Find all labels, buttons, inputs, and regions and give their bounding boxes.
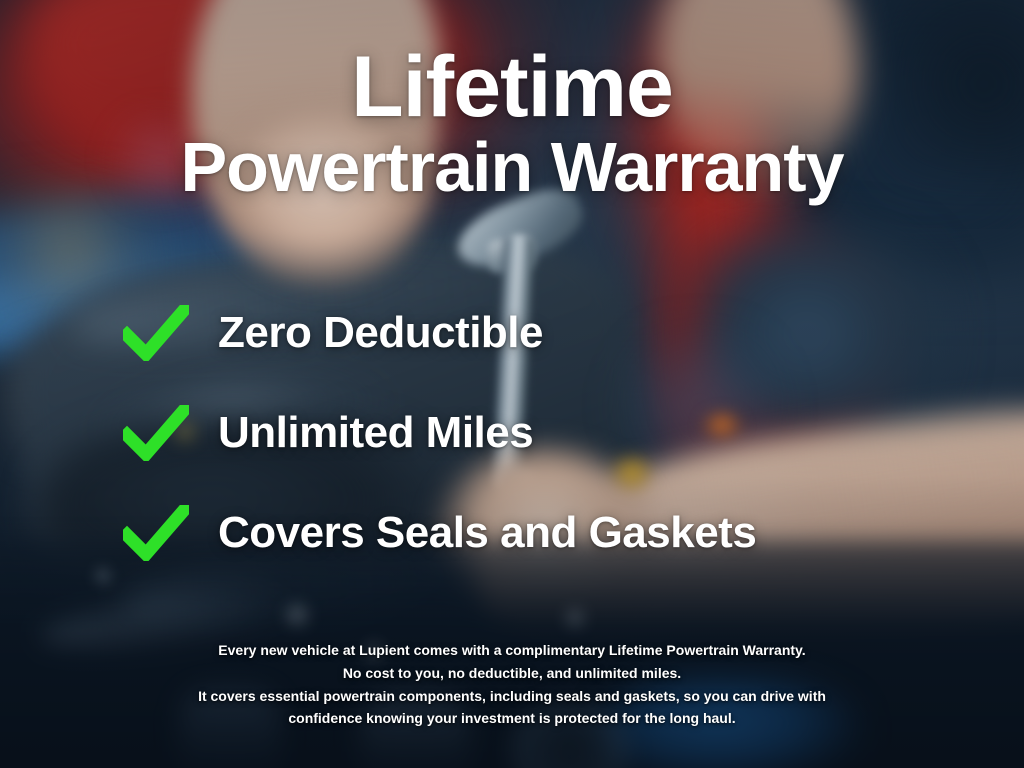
list-item: Covers Seals and Gaskets bbox=[118, 483, 958, 583]
footer-line-2: No cost to you, no deductible, and unlim… bbox=[60, 662, 964, 685]
footer-line-1: Every new vehicle at Lupient comes with … bbox=[60, 639, 964, 662]
headline: Lifetime Powertrain Warranty bbox=[0, 48, 1024, 200]
list-item-label: Zero Deductible bbox=[218, 308, 543, 358]
list-item: Zero Deductible bbox=[118, 283, 958, 383]
footer-description: Every new vehicle at Lupient comes with … bbox=[60, 639, 964, 730]
list-item-label: Covers Seals and Gaskets bbox=[218, 508, 756, 558]
check-icon bbox=[118, 505, 194, 561]
footer-line-4: confidence knowing your investment is pr… bbox=[60, 707, 964, 730]
headline-line-1: Lifetime bbox=[0, 48, 1024, 127]
headline-line-2: Powertrain Warranty bbox=[0, 135, 1024, 199]
footer-line-3: It covers essential powertrain component… bbox=[60, 685, 964, 708]
promo-banner: Lifetime Powertrain Warranty Zero Deduct… bbox=[0, 0, 1024, 768]
check-icon bbox=[118, 405, 194, 461]
benefits-list: Zero Deductible Unlimited Miles Covers S… bbox=[118, 283, 958, 583]
list-item-label: Unlimited Miles bbox=[218, 408, 533, 458]
list-item: Unlimited Miles bbox=[118, 383, 958, 483]
check-icon bbox=[118, 305, 194, 361]
banner-content: Lifetime Powertrain Warranty Zero Deduct… bbox=[0, 0, 1024, 768]
